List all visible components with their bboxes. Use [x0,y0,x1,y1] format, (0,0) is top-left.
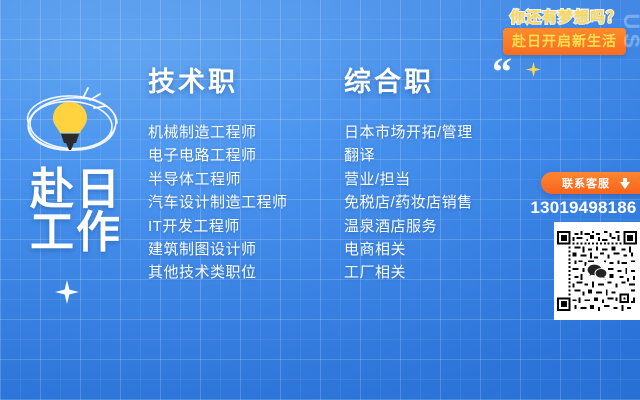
list-item: 机械制造工程师 [148,121,328,144]
contact-service-label: 联系客服 [562,175,610,191]
page-title: 赴日 工作 [14,168,138,254]
lightbulb-icon [14,82,134,162]
column-heading-technical: 技术职 [148,60,328,99]
list-item: 翻译 [344,144,544,167]
list-item: 营业/担当 [344,168,544,191]
list-item: 半导体工程师 [148,168,328,191]
list-item: 温泉酒店服务 [344,215,544,238]
phone-number: 13019498186 [527,198,640,218]
list-item: 电子电路工程师 [148,144,328,167]
list-item: 工厂相关 [344,261,544,284]
slogan-primary: 你还有梦想吗？ [510,6,622,27]
column-heading-general: 综合职 [344,60,544,99]
poster-canvas: 赴日 工作 技术职 机械制造工程师 电子电路工程师 半导体工程师 汽车设计制造工… [0,0,640,400]
list-item: IT开发工程师 [148,215,328,238]
list-item: 免税店/药妆店销售 [344,191,544,214]
list-item: 建筑制图设计师 [148,238,328,261]
slogan-banner: 赴日开启新生活 [503,28,626,55]
brand-title-line1: 赴日 [14,168,138,211]
list-item: 电商相关 [344,238,544,261]
job-list-technical: 机械制造工程师 电子电路工程师 半导体工程师 汽车设计制造工程师 IT开发工程师… [148,121,328,285]
sparkle-star-icon [55,280,79,304]
list-item: 汽车设计制造工程师 [148,191,328,214]
quote-mark-icon: “ [492,52,512,92]
column-technical: 技术职 机械制造工程师 电子电路工程师 半导体工程师 汽车设计制造工程师 IT开… [148,60,328,285]
slogan-secondary: 赴日开启新生活 [512,31,617,51]
qr-code[interactable] [554,222,640,320]
arrow-down-icon [620,178,630,189]
wechat-icon [586,262,608,280]
job-list-general: 日本市场开拓/管理 翻译 营业/担当 免税店/药妆店销售 温泉酒店服务 电商相关… [344,121,544,285]
join-us-watermark: JOIN US [618,0,640,52]
column-general: 综合职 日本市场开拓/管理 翻译 营业/担当 免税店/药妆店销售 温泉酒店服务 … [344,60,544,285]
list-item: 日本市场开拓/管理 [344,121,544,144]
list-item: 其他技术类职位 [148,261,328,284]
brand-block: 赴日 工作 [14,82,150,254]
contact-service-button[interactable]: 联系客服 [541,172,640,194]
brand-title-line2: 工作 [14,211,138,254]
